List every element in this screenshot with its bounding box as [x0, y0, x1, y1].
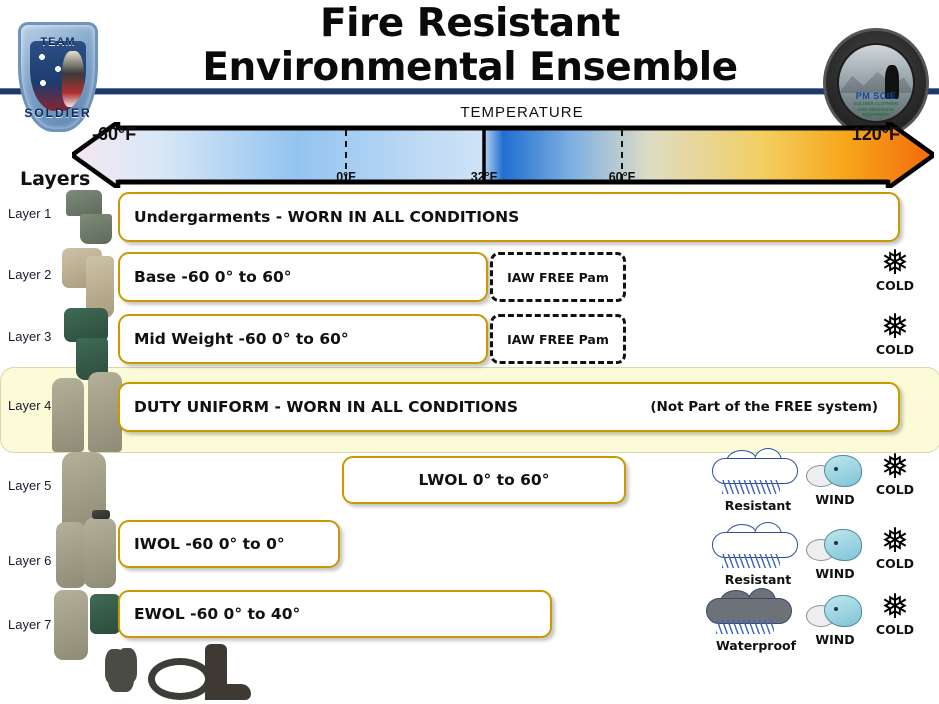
- title-line-1: Fire Resistant: [320, 1, 620, 46]
- layer-row-3-box[interactable]: Mid Weight -60 0° to 60°: [118, 314, 488, 364]
- rain-cloud-dark-icon: [706, 598, 790, 632]
- layer-7-weather-rain: Waterproof: [706, 598, 806, 653]
- pm-scie-text: PM SCIE: [839, 91, 913, 101]
- snowflake-icon: ❅: [864, 248, 926, 278]
- layer-2-iaw-text: IAW FREE Pam: [507, 270, 609, 285]
- title-divider: [0, 88, 939, 95]
- layer-row-4-box[interactable]: DUTY UNIFORM - WORN IN ALL CONDITIONS (N…: [118, 382, 900, 432]
- garment-thumb-layer-4: [52, 372, 128, 454]
- layer-4-note: (Not Part of the FREE system): [650, 399, 878, 415]
- layer-3-iaw-badge[interactable]: IAW FREE Pam: [490, 314, 626, 364]
- layer-3-cold-caption: COLD: [864, 342, 926, 357]
- wind-icon: [806, 529, 862, 563]
- layer-5-weather-rain: Resistant: [712, 458, 804, 513]
- layer-label-1: Layer 1: [8, 206, 51, 221]
- layer-6-weather-rain: Resistant: [712, 532, 804, 587]
- layer-label-2: Layer 2: [8, 267, 51, 282]
- layer-3-iaw-text: IAW FREE Pam: [507, 332, 609, 347]
- layer-row-1-box[interactable]: Undergarments - WORN IN ALL CONDITIONS: [118, 192, 900, 242]
- layer-5-cold-caption: COLD: [864, 482, 926, 497]
- layer-row-2-box[interactable]: Base -60 0° to 60°: [118, 252, 488, 302]
- tick-label-0f: 0°F: [336, 170, 356, 184]
- layer-2-cold-caption: COLD: [864, 278, 926, 293]
- layers-heading: Layers: [20, 168, 90, 190]
- snowflake-icon: ❅: [864, 526, 926, 556]
- layer-6-wind-caption: WIND: [806, 566, 864, 581]
- layer-6-text: IWOL -60 0° to 0°: [120, 535, 285, 553]
- layer-4-text: DUTY UNIFORM - WORN IN ALL CONDITIONS: [120, 398, 518, 416]
- tick-label-60f: 60°F: [609, 170, 636, 184]
- wind-icon: [806, 595, 862, 629]
- layer-6-rain-caption: Resistant: [712, 572, 804, 587]
- rain-cloud-icon: [712, 458, 796, 492]
- layer-7-text: EWOL -60 0° to 40°: [120, 605, 300, 623]
- accessory-glove-icon: [108, 652, 134, 692]
- layer-5-weather-wind: WIND: [806, 455, 864, 507]
- temperature-max-label: 120°F: [852, 124, 900, 145]
- layer-5-rain-caption: Resistant: [712, 498, 804, 513]
- mountain-icon: [839, 67, 913, 93]
- layer-5-wind-caption: WIND: [806, 492, 864, 507]
- layer-6-weather-wind: WIND: [806, 529, 864, 581]
- team-soldier-top-text: TEAM: [18, 36, 98, 48]
- page-title: Fire Resistant Environmental Ensemble: [120, 2, 820, 90]
- snowflake-icon: ❅: [864, 452, 926, 482]
- layer-row-5-box[interactable]: LWOL 0° to 60°: [342, 456, 626, 504]
- layer-label-4: Layer 4: [8, 398, 51, 413]
- layer-7-weather-cold: ❅ COLD: [864, 592, 926, 637]
- temperature-arrow-graphic: [72, 122, 934, 188]
- layer-5-weather-cold: ❅ COLD: [864, 452, 926, 497]
- garment-thumb-layer-6: [56, 518, 118, 590]
- layer-3-weather-cold: ❅ COLD: [864, 312, 926, 357]
- title-line-2: Environmental Ensemble: [120, 46, 820, 90]
- layer-7-rain-caption: Waterproof: [706, 638, 806, 653]
- snowflake-icon: ❅: [864, 312, 926, 342]
- temperature-min-label: -60°F: [92, 124, 136, 145]
- layer-label-3: Layer 3: [8, 329, 51, 344]
- layer-7-weather-wind: WIND: [806, 595, 864, 647]
- layer-label-7: Layer 7: [8, 617, 51, 632]
- layer-2-weather-cold: ❅ COLD: [864, 248, 926, 293]
- layer-6-weather-cold: ❅ COLD: [864, 526, 926, 571]
- layer-2-text: Base -60 0° to 60°: [120, 268, 292, 286]
- layer-1-text: Undergarments - WORN IN ALL CONDITIONS: [120, 208, 519, 226]
- layer-row-6-box[interactable]: IWOL -60 0° to 0°: [118, 520, 340, 568]
- shield-emblem-icon: [30, 41, 86, 111]
- team-soldier-bottom-text: SOLDIER: [18, 106, 98, 120]
- layer-7-wind-caption: WIND: [806, 632, 864, 647]
- accessory-boot-icon: [205, 644, 227, 700]
- tick-label-32f: 32°F: [471, 170, 498, 184]
- layer-5-text: LWOL 0° to 60°: [344, 471, 624, 489]
- layer-6-cold-caption: COLD: [864, 556, 926, 571]
- layer-row-7-box[interactable]: EWOL -60 0° to 40°: [118, 590, 552, 638]
- temperature-label: TEMPERATURE: [402, 104, 642, 121]
- rain-cloud-icon: [712, 532, 796, 566]
- team-soldier-logo: TEAM SOLDIER: [18, 22, 98, 132]
- layer-2-iaw-badge[interactable]: IAW FREE Pam: [490, 252, 626, 302]
- garment-thumb-layer-3: [64, 308, 118, 380]
- accessory-neck-gaiter-icon: [148, 658, 212, 700]
- garment-thumb-layer-7: [54, 588, 122, 660]
- temperature-scale: TEMPERATURE -60°F 120°F 0°F 32°F: [72, 104, 934, 188]
- wind-icon: [806, 455, 862, 489]
- layer-label-6: Layer 6: [8, 553, 51, 568]
- snowflake-icon: ❅: [864, 592, 926, 622]
- layer-label-5: Layer 5: [8, 478, 51, 493]
- layer-3-text: Mid Weight -60 0° to 60°: [120, 330, 349, 348]
- garment-thumb-layer-1: [62, 190, 114, 250]
- layer-7-cold-caption: COLD: [864, 622, 926, 637]
